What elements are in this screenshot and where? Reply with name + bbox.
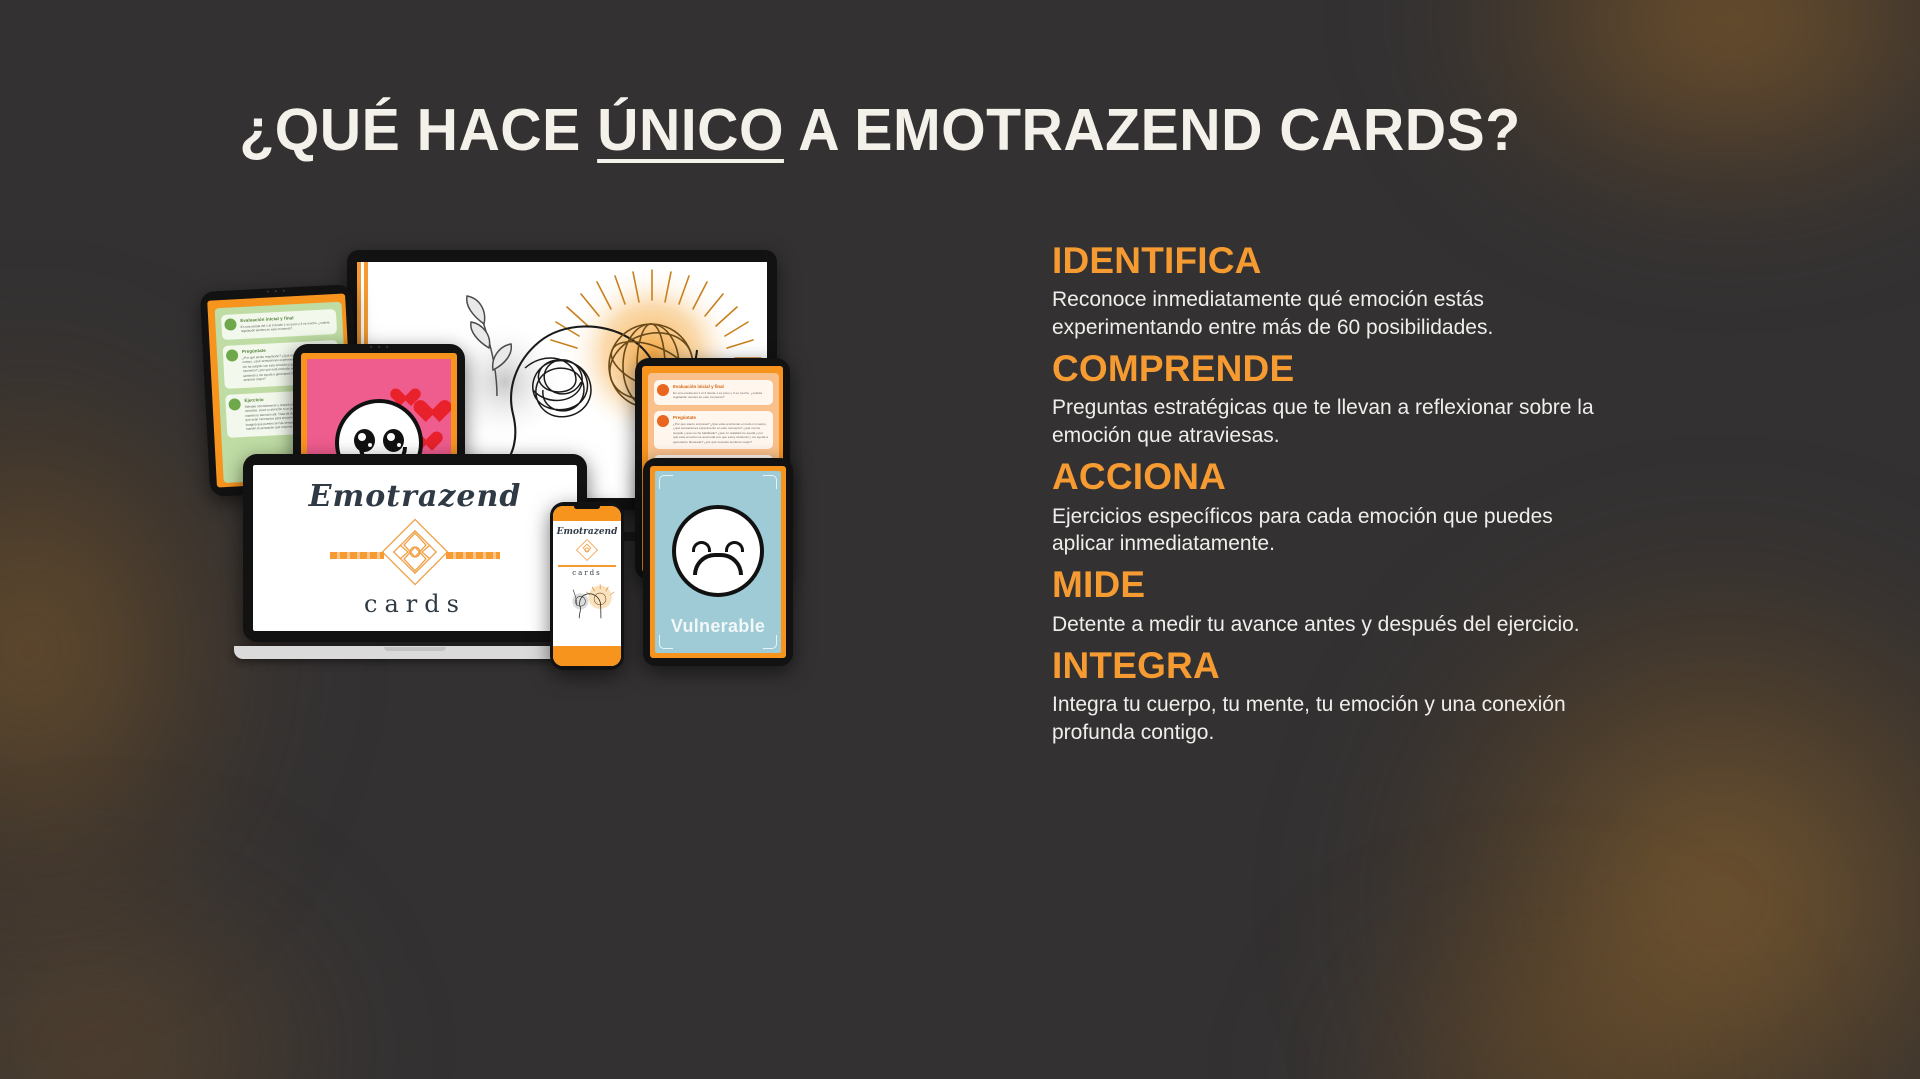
feature-item-integra: INTEGRA Integra tu cuerpo, tu mente, tu … (1052, 645, 1612, 746)
phone-notch (574, 504, 600, 509)
device-mockup-collage: Evaluación inicial y final En una escala… (205, 240, 945, 840)
feature-item-acciona: ACCIONA Ejercicios específicos para cada… (1052, 456, 1612, 557)
lightbulb-icon (657, 415, 669, 427)
blue-vulnerable-tablet-mockup: Vulnerable (643, 458, 793, 666)
logo-rule (558, 565, 616, 567)
emotrazend-logo: Emotrazend (253, 465, 577, 631)
phone-content: Emotrazend cards (553, 521, 621, 646)
laptop-bezel: Emotrazend (243, 454, 587, 642)
page-title-part-after: A EMOTRAZEND CARDS? (784, 97, 1521, 163)
page-title-highlight: ÚNICO (597, 97, 784, 163)
feature-body: Preguntas estratégicas que te llevan a r… (1052, 394, 1612, 449)
logo-wordmark: Emotrazend (557, 527, 618, 537)
card-section: Pregúntate ¿Por qué siento sorpresa? ¿Qu… (654, 411, 773, 449)
feature-heading: IDENTIFICA (1052, 240, 1612, 281)
camera-dots-icon (370, 346, 388, 348)
feature-heading: COMPRENDE (1052, 348, 1612, 389)
card-section-text: ¿Por qué siento sorpresa? ¿Qué está ocur… (673, 422, 768, 444)
card-section-text: En una escala del 1 al 3 donde 1 es poco… (241, 320, 332, 334)
camera-dots-icon (267, 290, 285, 293)
phone-bezel: Emotrazend cards (550, 502, 624, 670)
lotus-diamond-icon (378, 515, 452, 589)
feature-heading: INTEGRA (1052, 645, 1612, 686)
page-title: ¿QUÉ HACE ÚNICO A EMOTRAZEND CARDS? (26, 96, 1733, 164)
feature-list: IDENTIFICA Reconoce inmediatamente qué e… (1052, 240, 1612, 753)
feature-body: Integra tu cuerpo, tu mente, tu emoción … (1052, 691, 1612, 746)
blue-tablet-screen: Vulnerable (650, 466, 786, 658)
card-corner-ornament (763, 635, 777, 649)
laptop-trackpad-notch (384, 647, 446, 651)
card-corner-ornament (763, 475, 777, 489)
magnifier-icon (224, 318, 237, 331)
laptop-base (234, 646, 596, 659)
vulnerable-emotion-card: Vulnerable (655, 471, 781, 653)
card-section-text: En una escala del 1 al 3 donde 1 es poco… (673, 391, 768, 400)
logo-subtext: cards (364, 590, 466, 618)
eye-left-icon (692, 541, 711, 552)
lightbulb-icon (226, 349, 239, 362)
logo-subtext: cards (572, 569, 602, 577)
download-icon (228, 398, 241, 411)
blue-tablet-bezel: Vulnerable (643, 458, 793, 666)
card-section: Evaluación inicial y final En una escala… (221, 309, 337, 340)
feature-heading: ACCIONA (1052, 456, 1612, 497)
card-corner-ornament (659, 475, 673, 489)
frown-mouth-icon (693, 553, 743, 575)
page-title-part-before: ¿QUÉ HACE (239, 97, 597, 163)
tangled-mind-illustration (557, 580, 617, 622)
logo-rule-left (330, 552, 384, 559)
heart-icon (415, 401, 440, 424)
feature-body: Ejercicios específicos para cada emoción… (1052, 503, 1612, 558)
laptop-screen: Emotrazend (253, 465, 577, 631)
emotion-label: Vulnerable (655, 616, 781, 637)
feature-item-identifica: IDENTIFICA Reconoce inmediatamente qué e… (1052, 240, 1612, 341)
phone-bottom-bar (553, 646, 621, 666)
card-corner-ornament (659, 635, 673, 649)
logo-wordmark: Emotrazend (309, 479, 522, 514)
glow-bottom-left (0, 839, 380, 1079)
phone-screen: Emotrazend cards (553, 506, 621, 666)
feature-heading: MIDE (1052, 564, 1612, 605)
sad-face-icon (672, 505, 764, 597)
feature-item-mide: MIDE Detente a medir tu avance antes y d… (1052, 564, 1612, 638)
laptop-mockup: Emotrazend (243, 454, 587, 659)
lotus-diamond-icon (574, 537, 600, 563)
magnifier-icon (657, 384, 669, 396)
feature-body: Reconoce inmediatamente qué emoción está… (1052, 286, 1612, 341)
card-section-title: Evaluación inicial y final (673, 384, 768, 389)
card-section: Evaluación inicial y final En una escala… (654, 380, 773, 405)
feature-body: Detente a medir tu avance antes y despué… (1052, 611, 1612, 638)
eye-right-icon (725, 541, 744, 552)
logo-rule-right (446, 552, 500, 559)
card-section-title: Pregúntate (673, 415, 768, 420)
feature-item-comprende: COMPRENDE Preguntas estratégicas que te … (1052, 348, 1612, 449)
phone-mockup: Emotrazend cards (550, 502, 624, 670)
